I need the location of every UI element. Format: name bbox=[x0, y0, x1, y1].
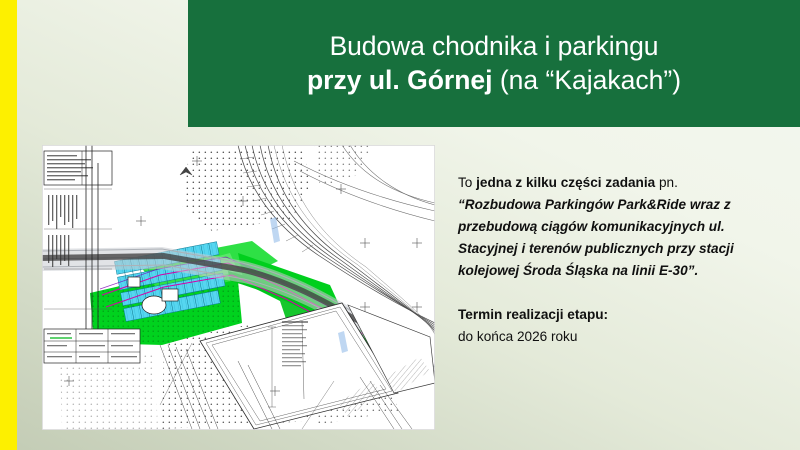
drawing-title-block-upper bbox=[44, 151, 112, 185]
title-banner: Budowa chodnika i parkingu przy ul. Górn… bbox=[188, 0, 800, 127]
deadline-value: do końca 2026 roku bbox=[458, 326, 784, 348]
page-title-emphasis: przy ul. Górnej bbox=[307, 65, 493, 95]
drawing-body bbox=[42, 145, 435, 430]
page-title-suffix: (na “Kajakach”) bbox=[493, 65, 682, 95]
left-accent-bar bbox=[0, 0, 17, 450]
deadline-label: Termin realizacji etapu: bbox=[458, 282, 784, 326]
intro-suffix: pn. bbox=[655, 175, 678, 190]
project-name-quote: “Rozbudowa Parkingów Park&Ride wraz z pr… bbox=[458, 194, 784, 282]
site-plan-drawing bbox=[42, 145, 435, 430]
intro-paragraph: To jedna z kilku części zadania pn. bbox=[458, 172, 784, 194]
intro-prefix: To bbox=[458, 175, 476, 190]
drawing-legend-block bbox=[44, 329, 140, 363]
body-copy-block: To jedna z kilku części zadania pn. “Roz… bbox=[458, 172, 784, 348]
page-title-line-2: przy ul. Górnej (na “Kajakach”) bbox=[307, 65, 681, 96]
site-plan-image bbox=[42, 145, 435, 430]
intro-emphasis: jedna z kilku części zadania bbox=[476, 175, 655, 190]
page-title-line-1: Budowa chodnika i parkingu bbox=[330, 31, 659, 62]
slide-canvas: Budowa chodnika i parkingu przy ul. Górn… bbox=[0, 0, 800, 450]
